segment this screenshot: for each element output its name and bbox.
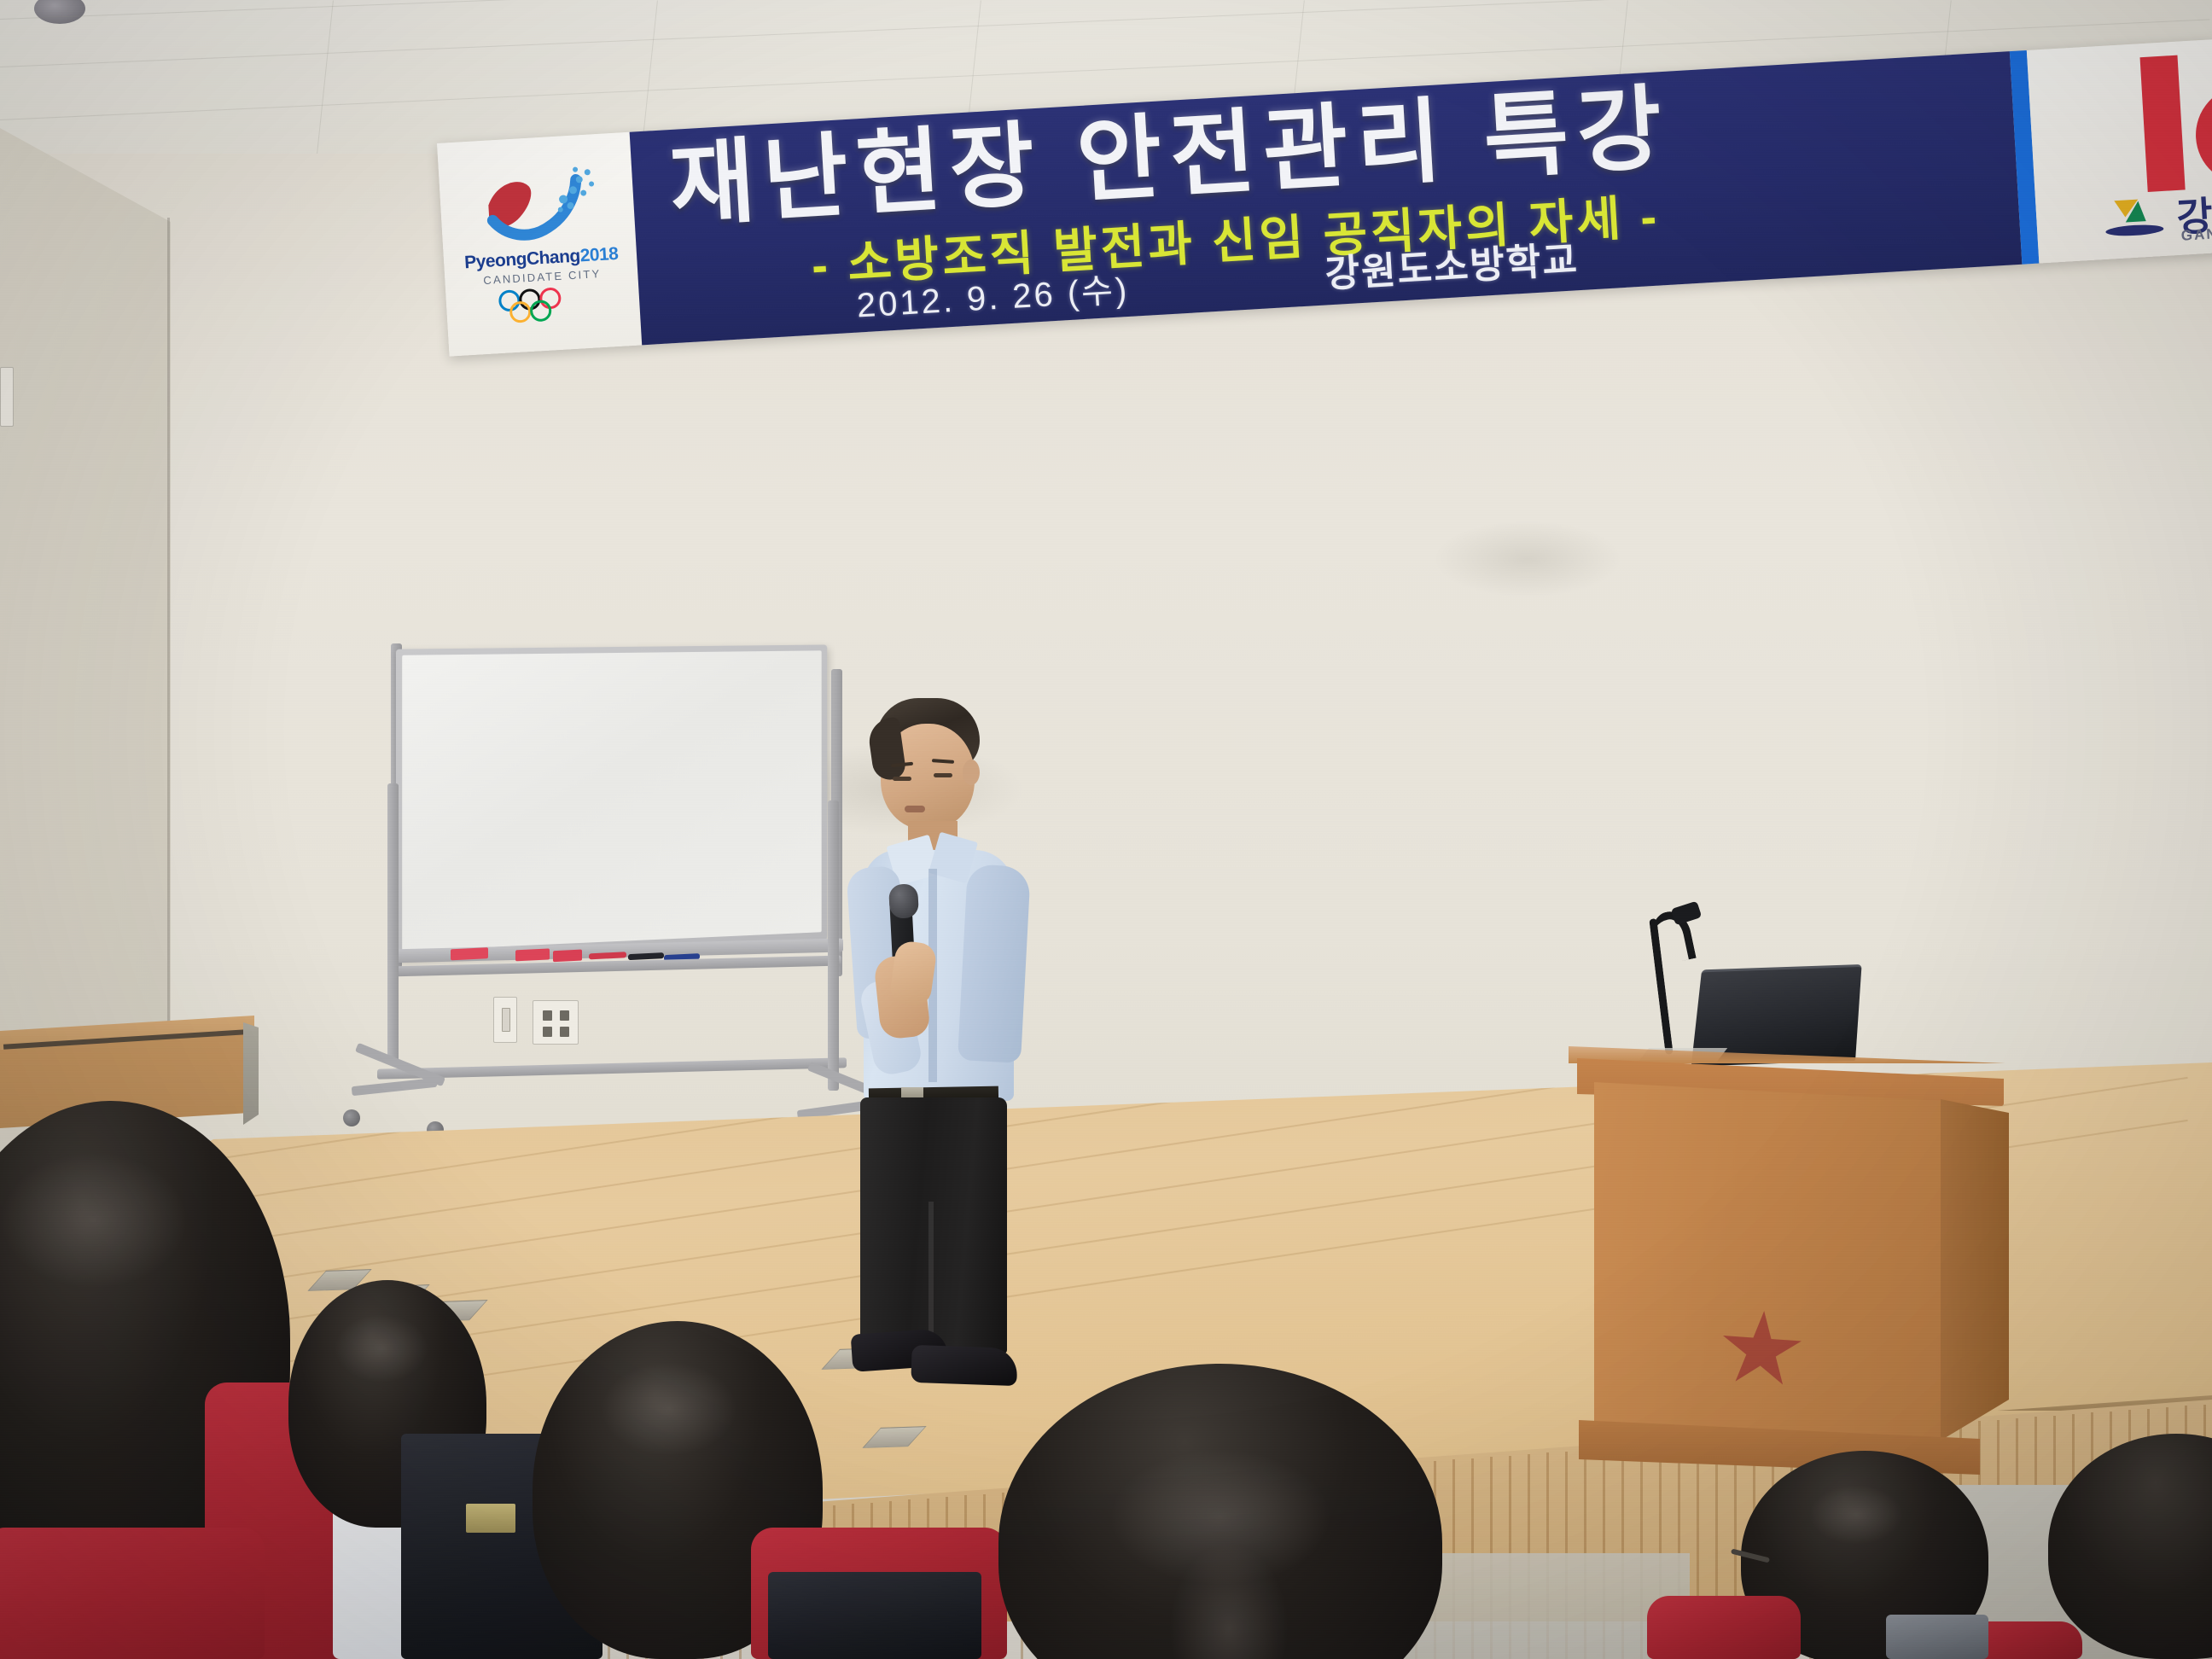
whiteboard-eraser[interactable]	[451, 947, 488, 960]
olympic-rings-icon	[495, 285, 592, 326]
lectern-side-panel	[1941, 1099, 2009, 1441]
presenter-ear	[963, 760, 980, 785]
auditorium-seat[interactable]	[0, 1528, 265, 1659]
auditorium-seat[interactable]	[1647, 1596, 1801, 1659]
auditorium-seat-rail[interactable]	[1886, 1615, 1988, 1659]
presenter-mouth	[905, 806, 925, 812]
wall-switch-plate[interactable]	[493, 997, 517, 1043]
left-wall-plate	[0, 367, 14, 427]
wall-corner-edge	[167, 218, 170, 1131]
presenter	[819, 698, 1050, 1372]
whiteboard-frame	[396, 644, 827, 959]
banner-left-panel: PyeongChang2018 CANDIDATE CITY	[437, 132, 642, 357]
lectern-front-panel	[1594, 1082, 1944, 1449]
presenter-eye-left	[893, 777, 911, 781]
seat-number-label	[466, 1504, 515, 1533]
pyeongchang-2018-logo: PyeongChang2018 CANDIDATE CITY	[459, 162, 622, 333]
lectern-star-emblem-icon	[1718, 1308, 1805, 1392]
auditorium-seat-back[interactable]	[768, 1572, 981, 1659]
wall-outlet-plate[interactable]	[533, 1000, 579, 1045]
whiteboard-caster	[343, 1109, 360, 1126]
whiteboard-foot-left-2	[352, 1078, 438, 1096]
presenter-eye-right	[934, 773, 952, 777]
whiteboard-post-left	[387, 783, 399, 1065]
side-cabinet-side-panel	[243, 1022, 259, 1125]
lectern[interactable]	[1569, 905, 2012, 1493]
ceiling-sprinkler-icon	[34, 0, 85, 24]
whiteboard-surface[interactable]	[402, 650, 821, 951]
gangwon-red-circle	[2193, 83, 2212, 188]
photo-scene: PyeongChang2018 CANDIDATE CITY	[0, 0, 2212, 1659]
banner-right-panel: 강원도 GANGWON	[2027, 39, 2212, 264]
mobile-whiteboard[interactable]	[340, 638, 903, 1185]
pyeongchang-emblem-icon	[473, 163, 608, 256]
microphone-head-icon	[888, 883, 919, 919]
presenter-shoe-right	[911, 1345, 1017, 1386]
gangwon-province-logo: 강원도 GANGWON	[2090, 44, 2212, 251]
whiteboard-marker-red[interactable]	[589, 952, 626, 959]
whiteboard-eraser[interactable]	[553, 950, 582, 963]
gangwon-red-bar	[2140, 55, 2186, 192]
whiteboard-crossbar-lower	[377, 1057, 847, 1079]
presenter-trousers	[860, 1097, 1007, 1353]
left-wall	[0, 128, 171, 1152]
presenter-sleeve-right	[958, 864, 1031, 1063]
lectern-microphone-icon	[1671, 901, 1703, 926]
whiteboard-eraser[interactable]	[515, 948, 550, 961]
gangwon-sailboat-icon	[2098, 194, 2180, 239]
